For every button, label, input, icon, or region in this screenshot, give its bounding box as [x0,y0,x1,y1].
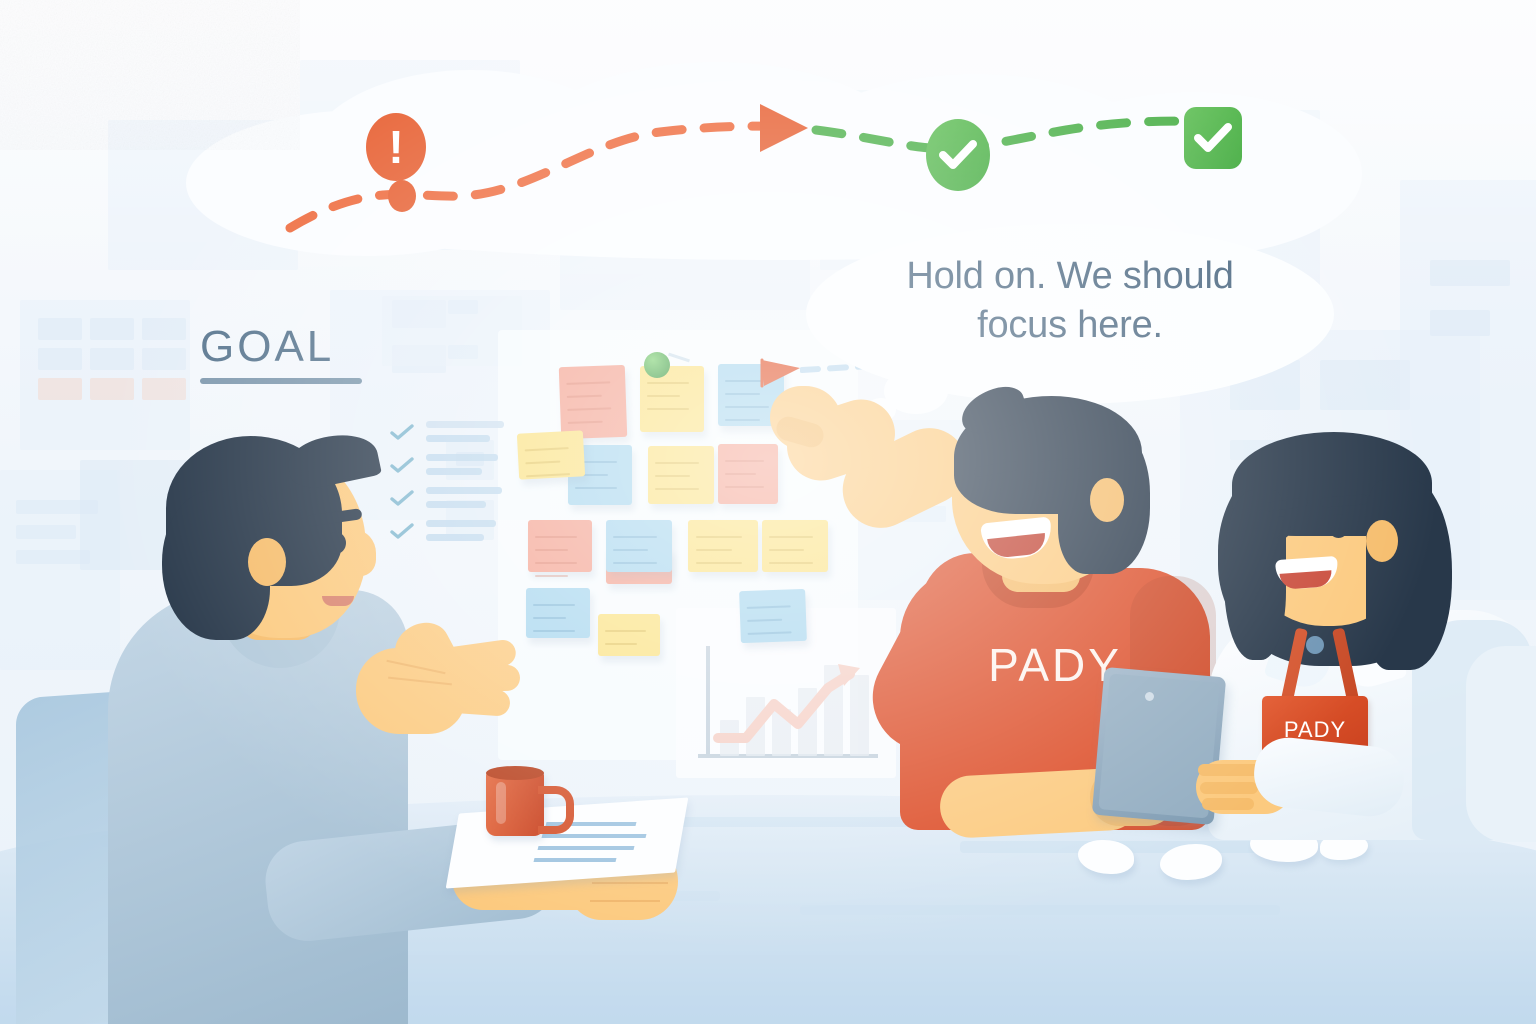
illustration-canvas: ! GOAL [0,0,1536,1024]
vignette-overlay [0,0,1536,1024]
